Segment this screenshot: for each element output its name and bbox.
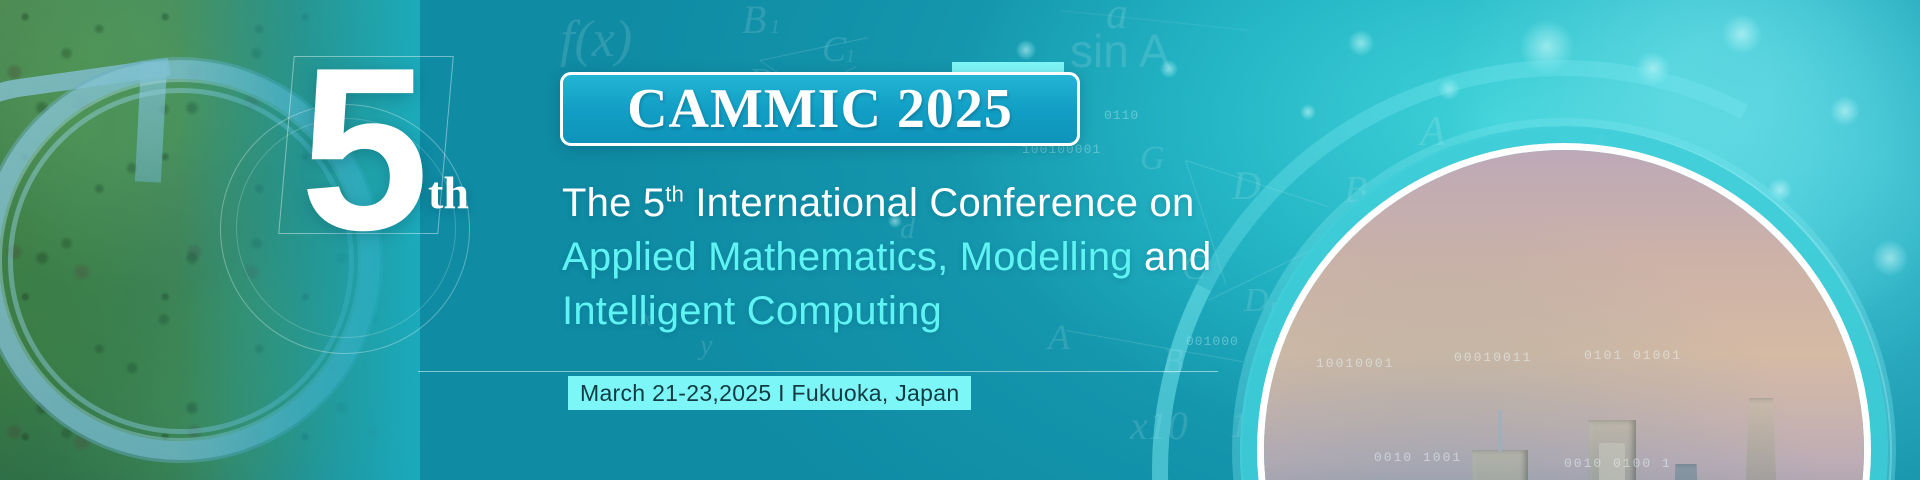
subtitle-line-2: Applied Mathematics, Modelling and — [562, 230, 1322, 284]
bokeh-dot — [1520, 20, 1574, 74]
subtitle-line2-highlight: Applied Mathematics, Modelling — [562, 235, 1133, 279]
ordinal-suffix: th — [428, 166, 469, 219]
divider-rule — [418, 371, 1218, 372]
subtitle-line1-superscript: th — [665, 182, 684, 207]
fraction-rule — [1060, 10, 1249, 31]
math-symbol: A — [1420, 108, 1446, 156]
bokeh-dot — [1348, 30, 1374, 56]
bokeh-dot — [1636, 52, 1670, 86]
conference-acronym-title: CAMMIC 2025 — [627, 81, 1013, 137]
bokeh-dot — [1722, 14, 1762, 54]
bokeh-dot — [1016, 40, 1036, 60]
subtitle-line-1: The 5th International Conference on — [562, 176, 1322, 230]
triangle-edge — [760, 37, 868, 61]
math-symbol: x10 — [1130, 402, 1188, 449]
math-symbol: B — [742, 0, 766, 43]
city-skyline-circle: 10010001000100110101 010010010 10010010 … — [1264, 150, 1864, 480]
bokeh-dot — [1300, 104, 1316, 120]
subtitle-line1-rest: International Conference on — [684, 181, 1194, 225]
subtitle-line-3: Intelligent Computing — [562, 284, 1322, 338]
math-symbol: 1 — [1230, 404, 1248, 446]
ordinal-5th-badge: 5 th — [300, 48, 490, 268]
date-location-bar: March 21-23,2025 I Fukuoka, Japan — [568, 376, 971, 410]
math-symbol: sin A — [1070, 24, 1170, 78]
subtitle-line2-plain: and — [1133, 235, 1212, 279]
math-symbol: C — [822, 28, 846, 70]
subtitle-line1-prefix: The 5 — [562, 181, 665, 225]
city-color-wash — [1264, 150, 1864, 480]
conference-subtitle: The 5th International Conference on Appl… — [562, 176, 1322, 338]
bokeh-dot — [1160, 60, 1178, 78]
binary-string: 0110 — [1104, 108, 1139, 123]
math-symbol: 1 — [770, 16, 780, 39]
math-symbol: B — [1162, 340, 1184, 382]
bokeh-dot — [1438, 78, 1460, 100]
math-symbol: a — [1106, 0, 1128, 39]
logo-accent-bar — [952, 62, 1064, 72]
conference-banner: f(x)B1C1B2asin AGDBCD1ABx101Adxy 1001000… — [0, 0, 1920, 480]
bokeh-dot — [1830, 96, 1860, 126]
math-symbol: G — [1140, 140, 1165, 178]
conference-logo-box: CAMMIC 2025 — [560, 72, 1080, 146]
math-symbol: f(x) — [560, 10, 632, 69]
bokeh-dot — [1872, 240, 1908, 276]
subtitle-line3-highlight: Intelligent Computing — [562, 289, 942, 333]
ordinal-number: 5 — [300, 34, 423, 266]
math-symbol: 1 — [846, 46, 855, 67]
date-location-text: March 21-23,2025 I Fukuoka, Japan — [580, 380, 959, 407]
bokeh-dot — [1592, 132, 1610, 150]
